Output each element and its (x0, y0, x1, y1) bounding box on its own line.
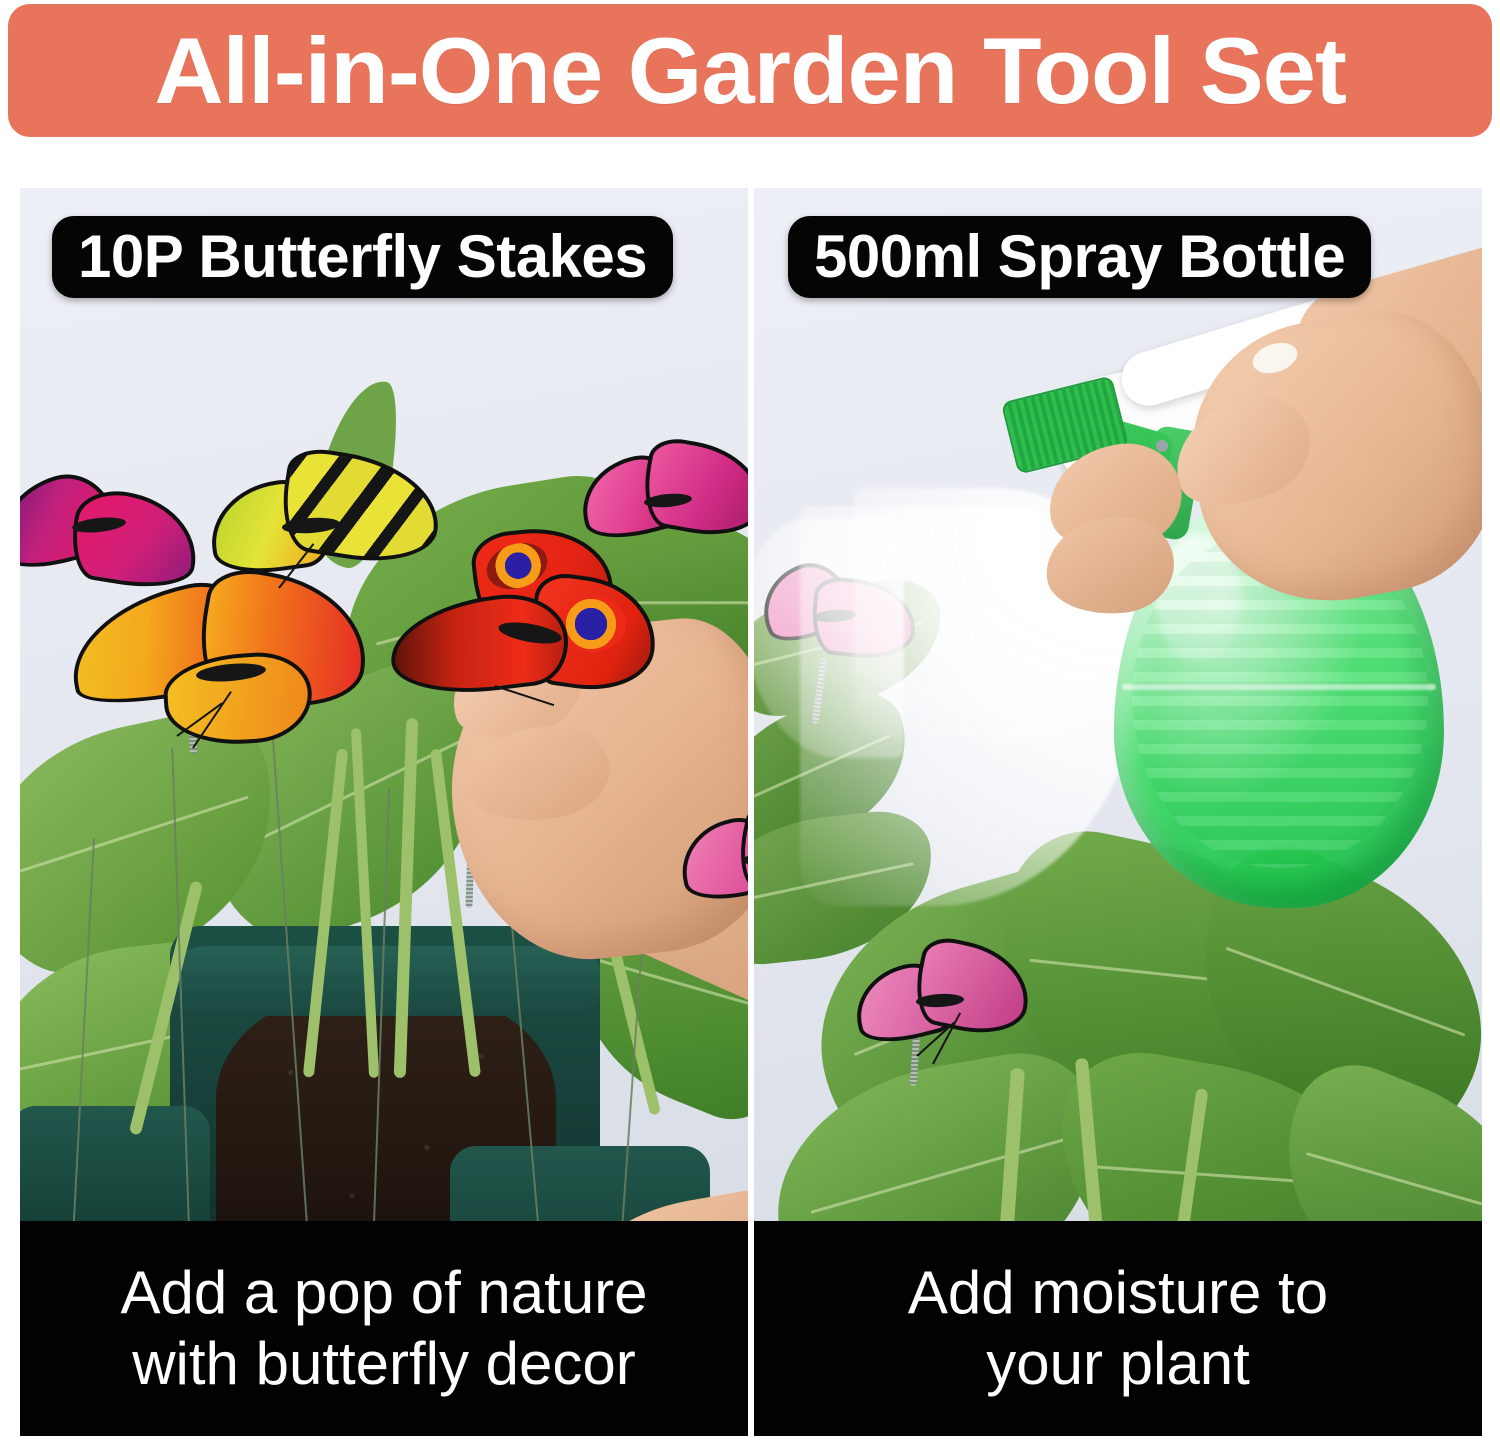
badge-spray-bottle[interactable]: 500ml Spray Bottle (788, 216, 1371, 298)
panel-row: 10P Butterfly Stakes Add a pop of nature… (0, 150, 1500, 1443)
page-title: All-in-One Garden Tool Set (154, 24, 1346, 118)
butterfly-wing-left (673, 810, 748, 907)
caption-butterfly-stakes: Add a pop of nature with butterfly decor (20, 1221, 748, 1436)
badge-label: 10P Butterfly Stakes (78, 227, 647, 287)
spray-bottle-photo (754, 188, 1482, 1266)
caption-spray-bottle: Add moisture to your plant (754, 1221, 1482, 1436)
panel-spray-bottle[interactable]: 500ml Spray Bottle Add moisture to your … (754, 188, 1482, 1436)
orange-red-butterfly (68, 568, 358, 778)
header-banner: All-in-One Garden Tool Set (8, 4, 1492, 137)
pink-butterfly-lower (854, 944, 1024, 1064)
pink-speckled-butterfly (680, 808, 748, 918)
pot-rim (170, 946, 600, 1016)
butterfly-wing-left (385, 588, 573, 703)
panel-butterfly-stakes[interactable]: 10P Butterfly Stakes Add a pop of nature… (20, 188, 748, 1436)
caption-line-2: your plant (986, 1329, 1250, 1399)
product-infographic: All-in-One Garden Tool Set (0, 0, 1500, 1443)
butterfly-antenna (495, 685, 555, 706)
butterfly-stakes-photo (20, 188, 748, 1266)
caption-line-2: with butterfly decor (132, 1329, 636, 1399)
red-peacock-butterfly (390, 528, 640, 718)
caption-line-1: Add moisture to (908, 1258, 1328, 1328)
caption-line-1: Add a pop of nature (120, 1258, 647, 1328)
trigger-screw (1156, 440, 1168, 452)
badge-butterfly-stakes[interactable]: 10P Butterfly Stakes (52, 216, 673, 298)
badge-label: 500ml Spray Bottle (814, 227, 1345, 287)
spray-mist (754, 518, 904, 758)
